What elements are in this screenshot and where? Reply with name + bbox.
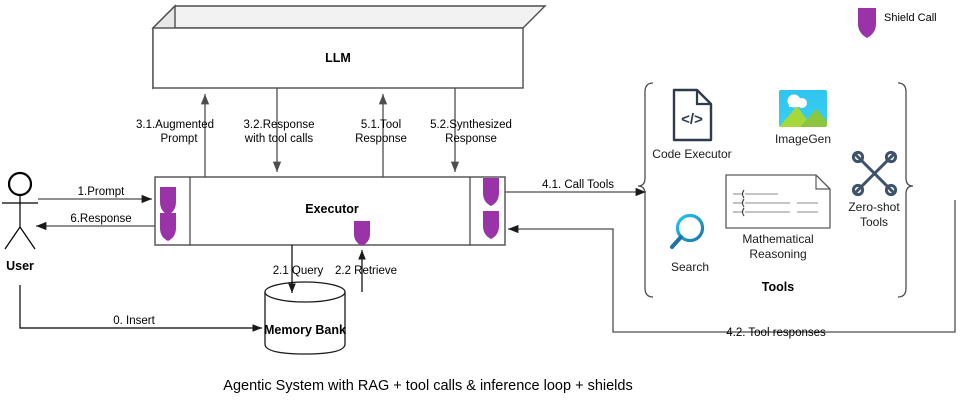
tool-label-zeroshot-line1: Zero-shot [848,200,900,214]
edge-label-tool-responses: 4.2. Tool responses [726,327,826,339]
tool-label-imagegen: ImageGen [775,132,831,146]
svg-text:</>: </> [681,111,703,128]
diagram-canvas: LLM 3.1.Augmented Prompt 3.2.Response wi… [0,0,970,411]
legend-shield-icon [858,8,876,38]
edge-label-synthesized-line2: Response [445,133,497,145]
edge-label-tool-response-line2: Response [355,133,407,145]
tool-label-math-line2: Reasoning [749,247,806,261]
tools-group-label: Tools [762,280,794,294]
edge-label-response: 6.Response [70,213,131,225]
executor-node: Executor [155,177,505,245]
edge-label-prompt: 1.Prompt [78,186,125,198]
edge-call-tools: 4.1. Call Tools [505,179,646,192]
legend: Shield Call [858,8,937,38]
edge-response: 6.Response [36,213,155,226]
crossed-wrenches-icon [853,152,895,194]
code-document-icon: </> [674,90,711,140]
tool-label-zeroshot-line2: Tools [860,215,888,229]
edge-label-query: 2.1 Query [273,265,324,277]
tool-imagegen: ImageGen [775,90,832,146]
edge-label-call-tools: 4.1. Call Tools [542,179,614,191]
user-actor: User [2,173,38,273]
legend-shield-label: Shield Call [884,12,937,24]
tool-search: Search [671,216,709,275]
edge-label-synthesized-line1: 5.2.Synthesized [430,119,512,131]
tool-zero-shot: Zero-shot Tools [848,152,900,229]
tool-code-executor: </> Code Executor [652,90,731,161]
edge-label-augmented-prompt-line1: 3.1.Augmented [136,119,214,131]
edge-insert: 0. Insert [20,285,262,328]
memory-bank-node: Memory Bank [264,282,346,354]
edge-label-augmented-prompt-line2: Prompt [160,133,198,145]
llm-label: LLM [325,51,351,65]
edge-label-response-tool-calls-line1: 3.2.Response [244,119,315,131]
edge-label-tool-response-line1: 5.1.Tool [361,119,401,131]
llm-node: LLM [153,6,545,88]
magnifier-icon [672,216,703,248]
image-icon [779,90,832,127]
edge-label-retrieve: 2.2 Retrieve [335,265,397,277]
tool-mathematical-reasoning: Mathematical Reasoning [726,175,830,261]
memory-bank-label: Memory Bank [264,323,346,337]
tool-label-search: Search [671,260,709,274]
diagram-caption: Agentic System with RAG + tool calls & i… [223,378,632,394]
user-label: User [6,259,34,273]
tool-label-code-executor: Code Executor [652,147,731,161]
edge-label-response-tool-calls-line2: with tool calls [244,133,314,145]
edge-label-insert: 0. Insert [113,315,155,327]
edge-prompt: 1.Prompt [38,186,152,199]
executor-label: Executor [305,202,359,216]
math-document-icon [726,175,830,228]
tool-label-math-line1: Mathematical [742,232,813,246]
edge-retrieve: 2.2 Retrieve [335,250,397,292]
